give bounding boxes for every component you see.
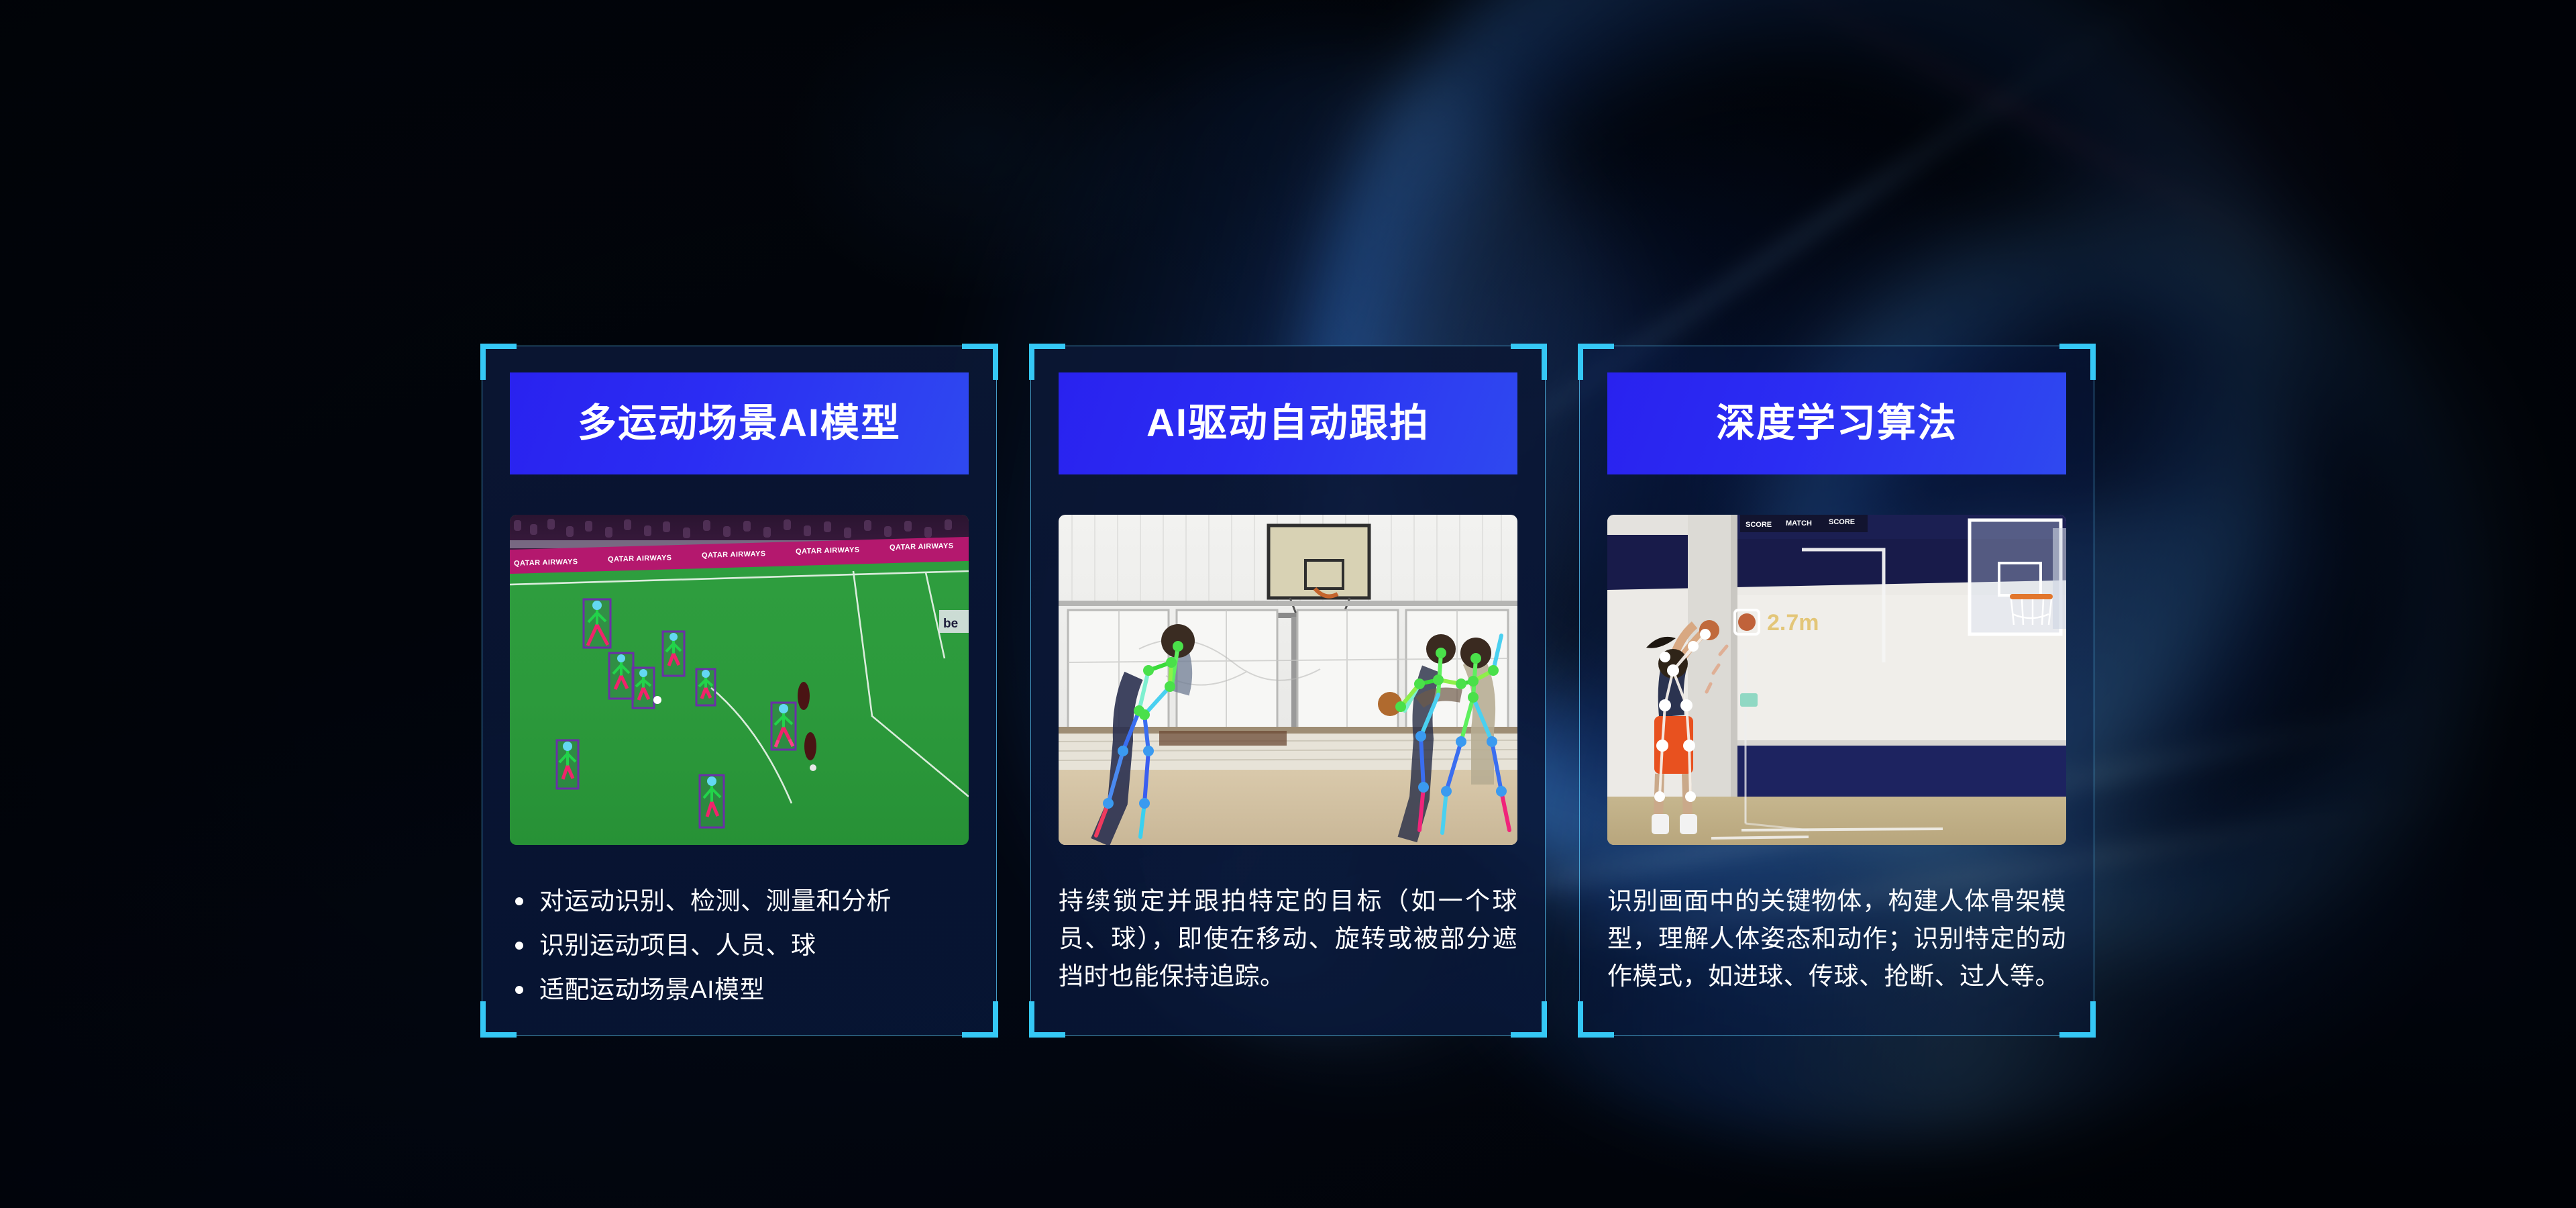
card-paragraph: 持续锁定并跟拍特定的目标（如一个球员、球），即使在移动、旋转或被部分遮挡时也能保… <box>1059 883 1517 996</box>
card-media-basketball-pose <box>1059 515 1517 845</box>
card-body: 识别画面中的关键物体，构建人体骨架模型，理解人体姿态和动作；识别特定的动作模式，… <box>1607 883 2066 996</box>
card-header-banner: 深度学习算法 <box>1607 372 2066 474</box>
card-media-shot-measure: SCORE MATCH SCORE <box>1607 515 2066 845</box>
svg-text:MATCH: MATCH <box>1786 519 1812 527</box>
card-content: AI驱动自动跟拍 <box>1059 372 1517 1013</box>
svg-text:be: be <box>943 617 958 631</box>
card-content: 多运动场景AI模型 <box>510 372 969 1013</box>
card-media-soccer-detection: QATAR AIRWAYS QATAR AIRWAYS QATAR AIRWAY… <box>510 515 969 845</box>
card-header-banner: 多运动场景AI模型 <box>510 372 969 474</box>
list-item: 适配运动场景AI模型 <box>510 971 969 1009</box>
basketball-pose-illustration <box>1059 515 1517 845</box>
list-item: 识别运动项目、人员、球 <box>510 927 969 964</box>
feature-card-deep-learning-algorithm[interactable]: 深度学习算法 <box>1579 346 2094 1036</box>
card-body: 对运动识别、检测、测量和分析 识别运动项目、人员、球 适配运动场景AI模型 <box>510 883 969 1009</box>
card-title: 多运动场景AI模型 <box>578 404 901 443</box>
card-body: 持续锁定并跟拍特定的目标（如一个球员、球），即使在移动、旋转或被部分遮挡时也能保… <box>1059 883 1517 996</box>
card-paragraph: 识别画面中的关键物体，构建人体骨架模型，理解人体姿态和动作；识别特定的动作模式，… <box>1607 883 2066 996</box>
measure-label: 2.7m <box>1767 610 1819 636</box>
card-title: AI驱动自动跟拍 <box>1146 404 1430 443</box>
feature-bullet-list: 对运动识别、检测、测量和分析 识别运动项目、人员、球 适配运动场景AI模型 <box>510 883 969 1009</box>
svg-text:SCORE: SCORE <box>1829 518 1855 526</box>
card-title: 深度学习算法 <box>1716 404 1957 443</box>
feature-card-ai-auto-tracking[interactable]: AI驱动自动跟拍 <box>1030 346 1546 1036</box>
card-content: 深度学习算法 <box>1607 372 2066 1013</box>
slide-canvas: 多运动场景AI模型 <box>0 0 2576 1208</box>
svg-text:SCORE: SCORE <box>1746 521 1772 529</box>
feature-card-multi-sport-ai-model[interactable]: 多运动场景AI模型 <box>482 346 997 1036</box>
card-header-banner: AI驱动自动跟拍 <box>1059 372 1517 474</box>
soccer-detection-illustration: QATAR AIRWAYS QATAR AIRWAYS QATAR AIRWAY… <box>510 515 969 845</box>
feature-card-list: 多运动场景AI模型 <box>482 346 2094 1036</box>
shot-measure-illustration: SCORE MATCH SCORE <box>1607 515 2066 845</box>
list-item: 对运动识别、检测、测量和分析 <box>510 883 969 920</box>
